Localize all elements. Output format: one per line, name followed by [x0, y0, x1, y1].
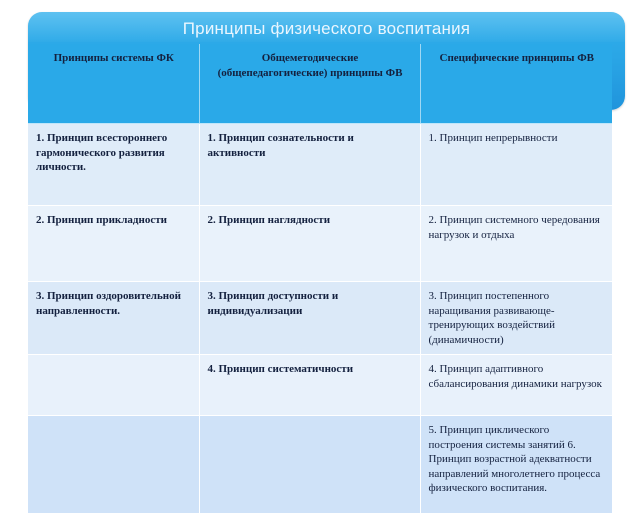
cell-system-2: 2. Принцип прикладности [28, 206, 199, 282]
cell-general-4: 4. Принцип систематичности [199, 355, 420, 416]
table-header-row: Принципы системы ФК Общеметодические (об… [28, 44, 612, 124]
table-row: 4. Принцип систематичности 4. Принцип ад… [28, 355, 612, 416]
table-row: 1. Принцип всестороннего гармонического … [28, 124, 612, 206]
cell-general-1: 1. Принцип сознательности и активности [199, 124, 420, 206]
cell-specific-2: 2. Принцип системного чередования нагруз… [420, 206, 612, 282]
cell-specific-5: 5. Принцип циклического построения систе… [420, 416, 612, 513]
cell-system-4 [28, 355, 199, 416]
cell-specific-3: 3. Принцип постепенного наращивания разв… [420, 282, 612, 355]
cell-system-3: 3. Принцип оздоровительной направленност… [28, 282, 199, 355]
page-title: Принципы физического воспитания [28, 14, 625, 44]
table-row: 3. Принцип оздоровительной направленност… [28, 282, 612, 355]
cell-specific-4: 4. Принцип адаптивного сбалансирования д… [420, 355, 612, 416]
cell-general-5 [199, 416, 420, 513]
cell-specific-1: 1. Принцип непрерывности [420, 124, 612, 206]
cell-system-1: 1. Принцип всестороннего гармонического … [28, 124, 199, 206]
table-body: 1. Принцип всестороннего гармонического … [28, 124, 612, 513]
column-header-specific-principles: Специфические принципы ФВ [420, 44, 612, 124]
cell-system-5 [28, 416, 199, 513]
cell-general-2: 2. Принцип наглядности [199, 206, 420, 282]
table-row: 5. Принцип циклического построения систе… [28, 416, 612, 513]
cell-general-3: 3. Принцип доступности и индивидуализаци… [199, 282, 420, 355]
column-header-general-method-principles: Общеметодические (общепедагогические) пр… [199, 44, 420, 124]
table-row: 2. Принцип прикладности 2. Принцип нагля… [28, 206, 612, 282]
principles-table: Принципы системы ФК Общеметодические (об… [28, 44, 612, 513]
principles-table-container: Принципы системы ФК Общеметодические (об… [28, 44, 612, 513]
table-header: Принципы системы ФК Общеметодические (об… [28, 44, 612, 124]
column-header-system-principles: Принципы системы ФК [28, 44, 199, 124]
